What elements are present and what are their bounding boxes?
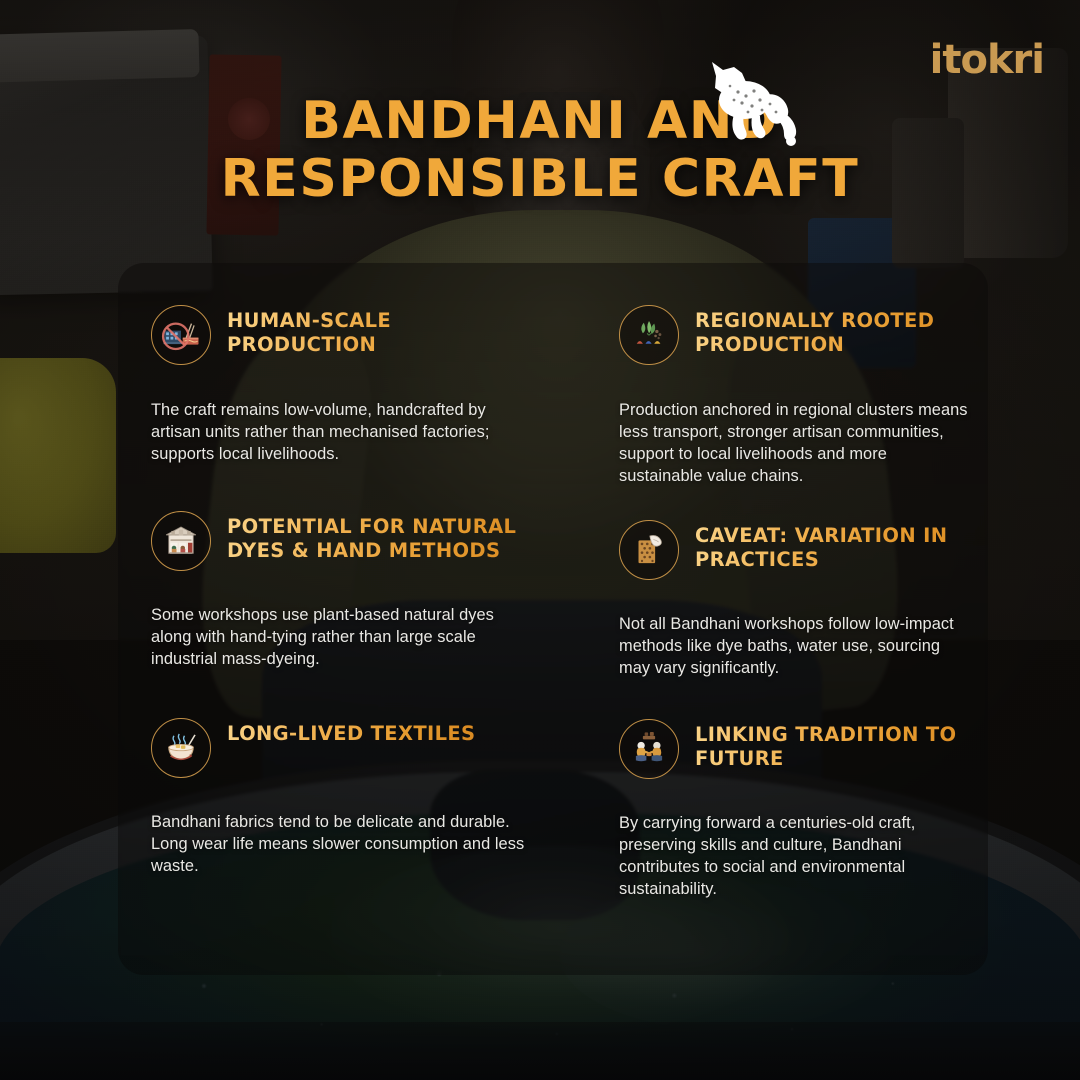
cat-mark-icon bbox=[690, 56, 808, 148]
two-artisans-icon bbox=[619, 719, 679, 779]
leaves-and-pigments-icon bbox=[619, 305, 679, 365]
card-linking-tradition-to-future[interactable]: LINKING TRADITION TO FUTURE By carrying … bbox=[619, 718, 974, 901]
page-title-line-1: BANDHANI AND bbox=[0, 92, 1080, 150]
content-columns: HUMAN-SCALE PRODUCTION The craft remains… bbox=[118, 263, 988, 975]
hand-holding-fabric-icon bbox=[619, 520, 679, 580]
page-title-line-2: RESPONSIBLE CRAFT bbox=[0, 150, 1080, 208]
card-title: REGIONALLY ROOTED PRODUCTION bbox=[695, 304, 974, 357]
card-title: LONG-LIVED TEXTILES bbox=[227, 717, 475, 746]
card-natural-dyes-hand-methods[interactable]: POTENTIAL FOR NATURAL DYES & HAND METHOD… bbox=[151, 510, 531, 671]
card-body: Some workshops use plant-based natural d… bbox=[151, 605, 531, 671]
workshop-building-icon bbox=[151, 511, 211, 571]
card-body: By carrying forward a centuries-old craf… bbox=[619, 813, 974, 901]
itokri-logo[interactable]: itokri bbox=[930, 40, 1044, 80]
card-header: REGIONALLY ROOTED PRODUCTION bbox=[619, 304, 974, 365]
no-factory-icon bbox=[151, 305, 211, 365]
page-title: BANDHANI AND RESPONSIBLE CRAFT bbox=[0, 92, 1080, 208]
card-title: POTENTIAL FOR NATURAL DYES & HAND METHOD… bbox=[227, 510, 531, 563]
column-left: HUMAN-SCALE PRODUCTION The craft remains… bbox=[118, 263, 553, 975]
infographic-poster: itokri BANDHANI AND RESPONSIBLE CRAFT bbox=[0, 0, 1080, 1080]
card-caveat-variation-in-practices[interactable]: CAVEAT: VARIATION IN PRACTICES Not all B… bbox=[619, 519, 974, 680]
column-right: REGIONALLY ROOTED PRODUCTION Production … bbox=[553, 263, 988, 975]
steaming-dye-pot-icon bbox=[151, 718, 211, 778]
card-header: CAVEAT: VARIATION IN PRACTICES bbox=[619, 519, 974, 580]
card-header: LONG-LIVED TEXTILES bbox=[151, 717, 531, 778]
card-human-scale-production[interactable]: HUMAN-SCALE PRODUCTION The craft remains… bbox=[151, 304, 531, 466]
card-body: Production anchored in regional clusters… bbox=[619, 400, 974, 488]
card-body: The craft remains low-volume, handcrafte… bbox=[151, 400, 531, 466]
card-body: Bandhani fabrics tend to be delicate and… bbox=[151, 812, 531, 878]
card-header: HUMAN-SCALE PRODUCTION bbox=[151, 304, 531, 365]
card-title: LINKING TRADITION TO FUTURE bbox=[695, 718, 974, 771]
card-header: LINKING TRADITION TO FUTURE bbox=[619, 718, 974, 779]
card-regionally-rooted-production[interactable]: REGIONALLY ROOTED PRODUCTION Production … bbox=[619, 304, 974, 488]
card-body: Not all Bandhani workshops follow low-im… bbox=[619, 614, 974, 680]
card-header: POTENTIAL FOR NATURAL DYES & HAND METHOD… bbox=[151, 510, 531, 571]
card-long-lived-textiles[interactable]: LONG-LIVED TEXTILES Bandhani fabrics ten… bbox=[151, 717, 531, 878]
card-title: CAVEAT: VARIATION IN PRACTICES bbox=[695, 519, 974, 572]
card-title: HUMAN-SCALE PRODUCTION bbox=[227, 304, 531, 357]
